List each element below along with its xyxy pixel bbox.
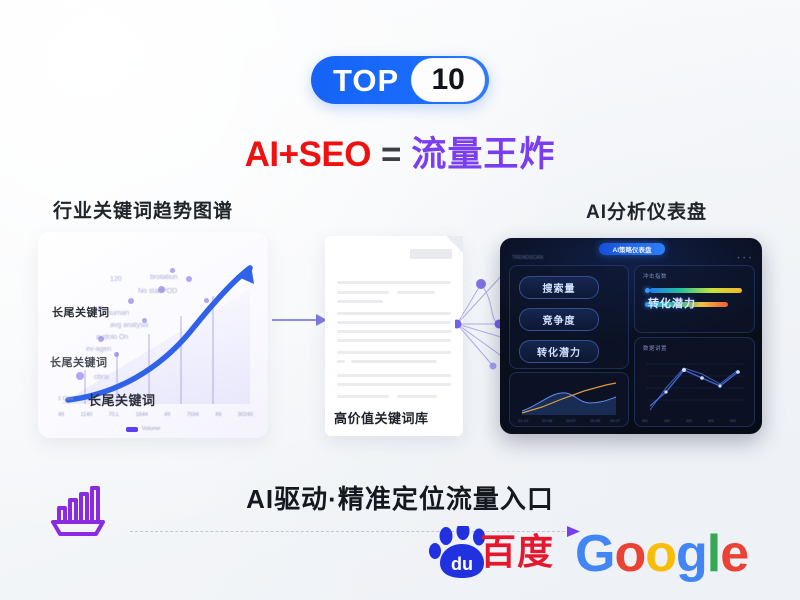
chart-tick: 05-07 <box>610 418 620 423</box>
page-title: AI+SEO=流量王炸 <box>0 126 800 177</box>
google-logo: Google <box>575 528 748 580</box>
doc-header-chip <box>410 249 452 259</box>
chart-tick: W4 <box>708 418 714 423</box>
axis-tick: 30240 <box>238 412 253 418</box>
keyword-label: 长尾关键词 <box>88 390 156 409</box>
trend-axis-ticks: 49 1140 70.L 1844 49 7694 49 30240 <box>58 412 253 418</box>
baidu-logo-sub: du <box>451 554 473 574</box>
chart-tick: 03-07 <box>566 418 576 423</box>
doc-caption: 高价值关键词库 <box>334 408 429 427</box>
pill-label: 竞争度 <box>543 312 576 327</box>
chart-tick: 01-14 <box>518 418 528 423</box>
trend-legend: Volume <box>126 426 160 432</box>
headline-left: AI+SEO <box>245 135 371 174</box>
pill-label: 搜索量 <box>543 280 576 295</box>
google-letter: o <box>645 525 676 583</box>
axis-tick: 1140 <box>80 412 92 418</box>
google-letter: o <box>614 525 645 583</box>
trend-y-label: 1 Clks <box>58 396 73 402</box>
chart-tick: 02-08 <box>542 418 552 423</box>
keyword-library-card: 高价值关键词库 <box>325 236 463 436</box>
axis-tick: 49 <box>215 412 221 418</box>
trend-blur-term: cbrsi <box>94 374 109 381</box>
search-engine-logos: du 百度 Google <box>420 520 760 586</box>
gradient-bar-1 <box>650 288 742 293</box>
headline-equals: = <box>381 135 401 174</box>
dashboard-area-chart <box>514 377 622 417</box>
metric-pill-search-volume[interactable]: 搜索量 <box>519 276 599 299</box>
trend-blur-term: No stadPOD <box>138 288 177 295</box>
keyword-trend-card: brotabun No stadPOD sumari avg analysis … <box>38 232 268 438</box>
google-letter: e <box>720 525 748 583</box>
dashboard-overlay-label: 转化潜力 <box>648 295 696 311</box>
chart-tick: 04-05 <box>590 418 600 423</box>
trend-blur-term: brotabun <box>150 274 178 281</box>
baidu-logo-text: 百度 <box>480 534 554 570</box>
flow-arrow-icon <box>272 313 328 327</box>
top-badge-number: 10 <box>431 65 464 95</box>
keyword-label: 长尾关键词 <box>52 304 110 320</box>
chart-tick: W5 <box>730 418 736 423</box>
headline-right: 流量王炸 <box>411 135 555 174</box>
chart-tick: W2 <box>664 418 670 423</box>
google-letter: g <box>676 525 707 583</box>
trend-blur-term: sumari <box>108 310 129 317</box>
metric-pill-conversion[interactable]: 转化潜力 <box>519 340 599 363</box>
legend-swatch <box>126 427 138 432</box>
axis-tick: 1844 <box>136 412 148 418</box>
pill-label: 转化潜力 <box>537 344 581 359</box>
ai-dashboard-card: AI策略仪表盘 TRENDSCAN • • • 搜索量 竞争度 转化潜力 冲击指… <box>500 238 762 434</box>
data-comparison-chart <box>640 354 748 416</box>
legend-label: Volume <box>142 426 160 432</box>
right-section-caption: AI分析仪表盘 <box>586 197 707 224</box>
axis-tick: 49 <box>164 412 170 418</box>
axis-tick: 7694 <box>187 412 199 418</box>
top-badge-label: TOP <box>333 65 399 96</box>
chart-tick: W1 <box>642 418 648 423</box>
trend-blur-term: audolo On <box>96 334 128 341</box>
footer-tagline: AI驱动·精准定位流量入口 <box>0 479 800 516</box>
dashboard-title-badge: AI策略仪表盘 <box>599 243 665 255</box>
google-letter: l <box>707 525 720 583</box>
impact-panel-title: 冲击指数 <box>643 272 667 280</box>
trend-blur-term: avg analysis <box>110 322 149 329</box>
trend-blur-term: 120 <box>110 276 122 283</box>
google-letter: G <box>575 525 614 583</box>
axis-tick: 49 <box>58 412 64 418</box>
data-panel-title: 数据讲置 <box>643 344 667 352</box>
metric-pill-competition[interactable]: 竞争度 <box>519 308 599 331</box>
top-badge: TOP 10 <box>311 56 489 104</box>
top-badge-number-wrap: 10 <box>411 58 485 102</box>
chart-tick: W3 <box>686 418 692 423</box>
keyword-label: 长尾关键词 <box>50 354 108 370</box>
dashboard-title: AI策略仪表盘 <box>613 244 652 254</box>
axis-tick: 70.L <box>109 412 120 418</box>
left-section-caption: 行业关键词趋势图谱 <box>53 196 233 223</box>
dashboard-menu-icon[interactable]: • • • <box>737 256 752 262</box>
gradient-bar-1-marker <box>645 288 650 293</box>
dashboard-brand: TRENDSCAN <box>512 255 543 261</box>
trend-blur-term: ev-agen <box>86 346 111 353</box>
